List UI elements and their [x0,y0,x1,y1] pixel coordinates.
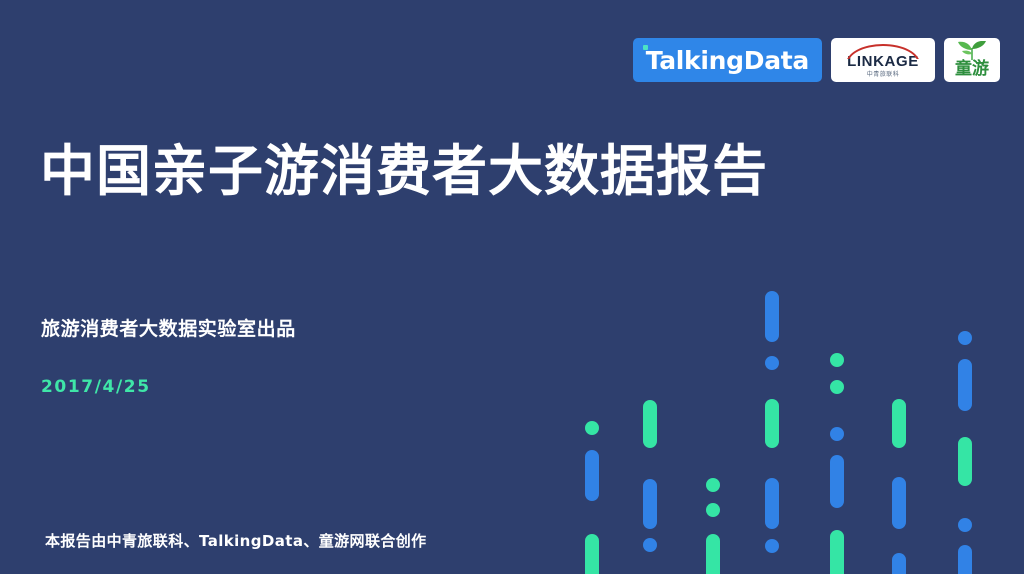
talkingdata-logo-text: TalkingData [646,48,809,73]
subtitle: 旅游消费者大数据实验室出品 [41,314,296,341]
arc-icon [846,44,920,59]
deco-bar-green [830,530,844,574]
report-cover-slide: TalkingData LINKAGE 中青旅联科 童游 中国亲子游消费者大数据… [0,0,1024,574]
deco-dot-blue [643,538,657,552]
deco-dot-blue [830,427,844,441]
deco-bar-blue [765,291,779,342]
deco-bar-blue [830,455,844,508]
report-date: 2017/4/25 [41,377,151,397]
deco-bar-blue [892,477,906,529]
page-title: 中国亲子游消费者大数据报告 [40,140,768,203]
sprout-leaf-icon [955,41,989,65]
deco-bar-blue [585,450,599,501]
linkage-logo-subtext: 中青旅联科 [867,72,900,78]
credit-line: 本报告由中青旅联科、TalkingData、童游网联合创作 [45,530,427,551]
deco-dot-green [706,478,720,492]
deco-bar-blue [643,479,657,529]
deco-dot-green [830,353,844,367]
deco-dot-blue [958,518,972,532]
deco-bar-green [892,399,906,448]
deco-bar-green [643,400,657,448]
deco-bar-blue [765,478,779,529]
trademark-mark-icon [643,45,648,50]
deco-bar-blue [958,545,972,574]
deco-bar-green [765,399,779,448]
deco-dot-green [585,421,599,435]
deco-dot-green [830,380,844,394]
linkage-logo[interactable]: LINKAGE 中青旅联科 [831,38,935,82]
deco-dot-blue [958,331,972,345]
deco-dot-green [706,503,720,517]
deco-bar-green [958,437,972,486]
talkingdata-logo[interactable]: TalkingData [633,38,822,82]
logo-bar: TalkingData LINKAGE 中青旅联科 童游 [633,38,1000,82]
deco-bar-green [585,534,599,574]
deco-bar-blue [958,359,972,411]
deco-dot-blue [765,356,779,370]
deco-dot-blue [765,539,779,553]
tongyou-logo[interactable]: 童游 [944,38,1000,82]
deco-bar-green [706,534,720,574]
bar-dot-pattern [0,0,1024,574]
deco-bar-blue [892,553,906,574]
